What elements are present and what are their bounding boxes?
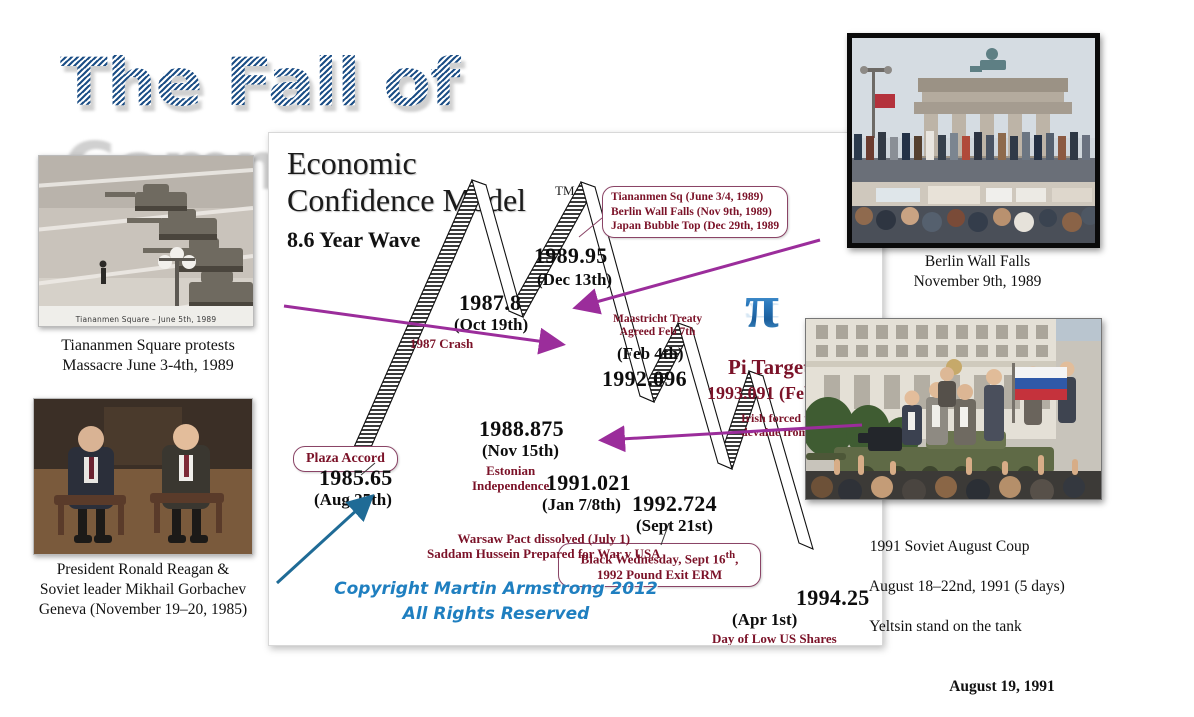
turning-point-value-1988: 1988.875 (479, 416, 564, 442)
tiananmen-image (39, 156, 253, 326)
annotation-low-us-shares: Day of Low US Shares (712, 631, 837, 646)
turning-point-value-1992-724: 1992.724 (632, 491, 717, 517)
turning-point-value-1987: 1987.8 (459, 290, 521, 316)
turning-point-value-1992-096: 1992.096 (602, 366, 687, 392)
turning-point-date-1989: (Dec 13th) (537, 270, 612, 290)
tiananmen-embedded-caption: Tiananmen Square – June 5th, 1989 (39, 315, 253, 324)
annotation-estonian: Estonian Independence (472, 463, 549, 493)
caption-soviet-coup: 1991 Soviet August Coup August 18–22nd, … (862, 517, 1142, 717)
turning-point-date-1994: (Apr 1st) (732, 610, 797, 630)
page-title: The Fall of Communism (60, 44, 897, 122)
photo-reagan-gorbachev (33, 398, 253, 555)
turning-point-date-1985: (Aug 25th) (314, 490, 392, 510)
reagan-gorbachev-image (34, 399, 252, 554)
annotation-warsaw-pact: Warsaw Pact dissolved (July 1) Saddam Hu… (427, 531, 661, 561)
berlin-wall-image (852, 38, 1095, 243)
annotation-irish-devalue: Irish forced to devalue from (741, 411, 814, 439)
turning-point-date-1992-096: (Feb 4th) (617, 344, 684, 364)
pi-symbol-icon: π (745, 276, 779, 338)
callout-1989-events: Tiananmen Sq (June 3/4, 1989) Berlin Wal… (602, 186, 788, 238)
photo-tiananmen-square: Tiananmen Square – June 5th, 1989 (38, 155, 254, 327)
turning-point-value-1994: 1994.25 (796, 585, 870, 611)
copyright-line-1: Copyright Martin Armstrong 2012 (334, 579, 658, 599)
caption-coup-line-1: 1991 Soviet August Coup (870, 538, 1030, 555)
photo-soviet-august-coup (805, 318, 1102, 500)
caption-reagan-gorbachev: President Ronald Reagan & Soviet leader … (12, 560, 274, 620)
turning-point-value-1991: 1991.021 (546, 470, 631, 496)
turning-point-date-1987: (Oct 19th) (454, 315, 528, 335)
turning-point-date-1991: (Jan 7/8th) (542, 495, 621, 515)
annotation-maastricht: Maastricht Treaty Agreed Feb 7th (613, 313, 702, 339)
pi-target-label: Pi Target (728, 355, 810, 380)
copyright-line-2: All Rights Reserved (403, 604, 590, 624)
turning-point-value-1985: 1985.65 (319, 465, 393, 491)
caption-tiananmen: Tiananmen Square protests Massacre June … (38, 336, 258, 376)
caption-coup-line-4: August 19, 1991 (862, 677, 1142, 697)
annotation-1987-crash: 1987 Crash (410, 336, 473, 351)
caption-coup-line-3: Yeltsin stand on the tank (869, 618, 1022, 635)
turning-point-value-1989: 1989.95 (534, 243, 608, 269)
caption-berlin-wall: Berlin Wall Falls November 9th, 1989 (860, 252, 1095, 292)
caption-coup-line-2: August 18–22nd, 1991 (5 days) (869, 578, 1065, 595)
copyright-notice: Copyright Martin Armstrong 2012 All Righ… (316, 577, 676, 627)
turning-point-date-1988: (Nov 15th) (482, 441, 559, 461)
economic-confidence-model-panel: EconomicConfidence Model TM 8.6 Year Wav… (268, 132, 883, 646)
photo-berlin-wall (847, 33, 1100, 248)
yeltsin-tank-image (806, 319, 1101, 499)
